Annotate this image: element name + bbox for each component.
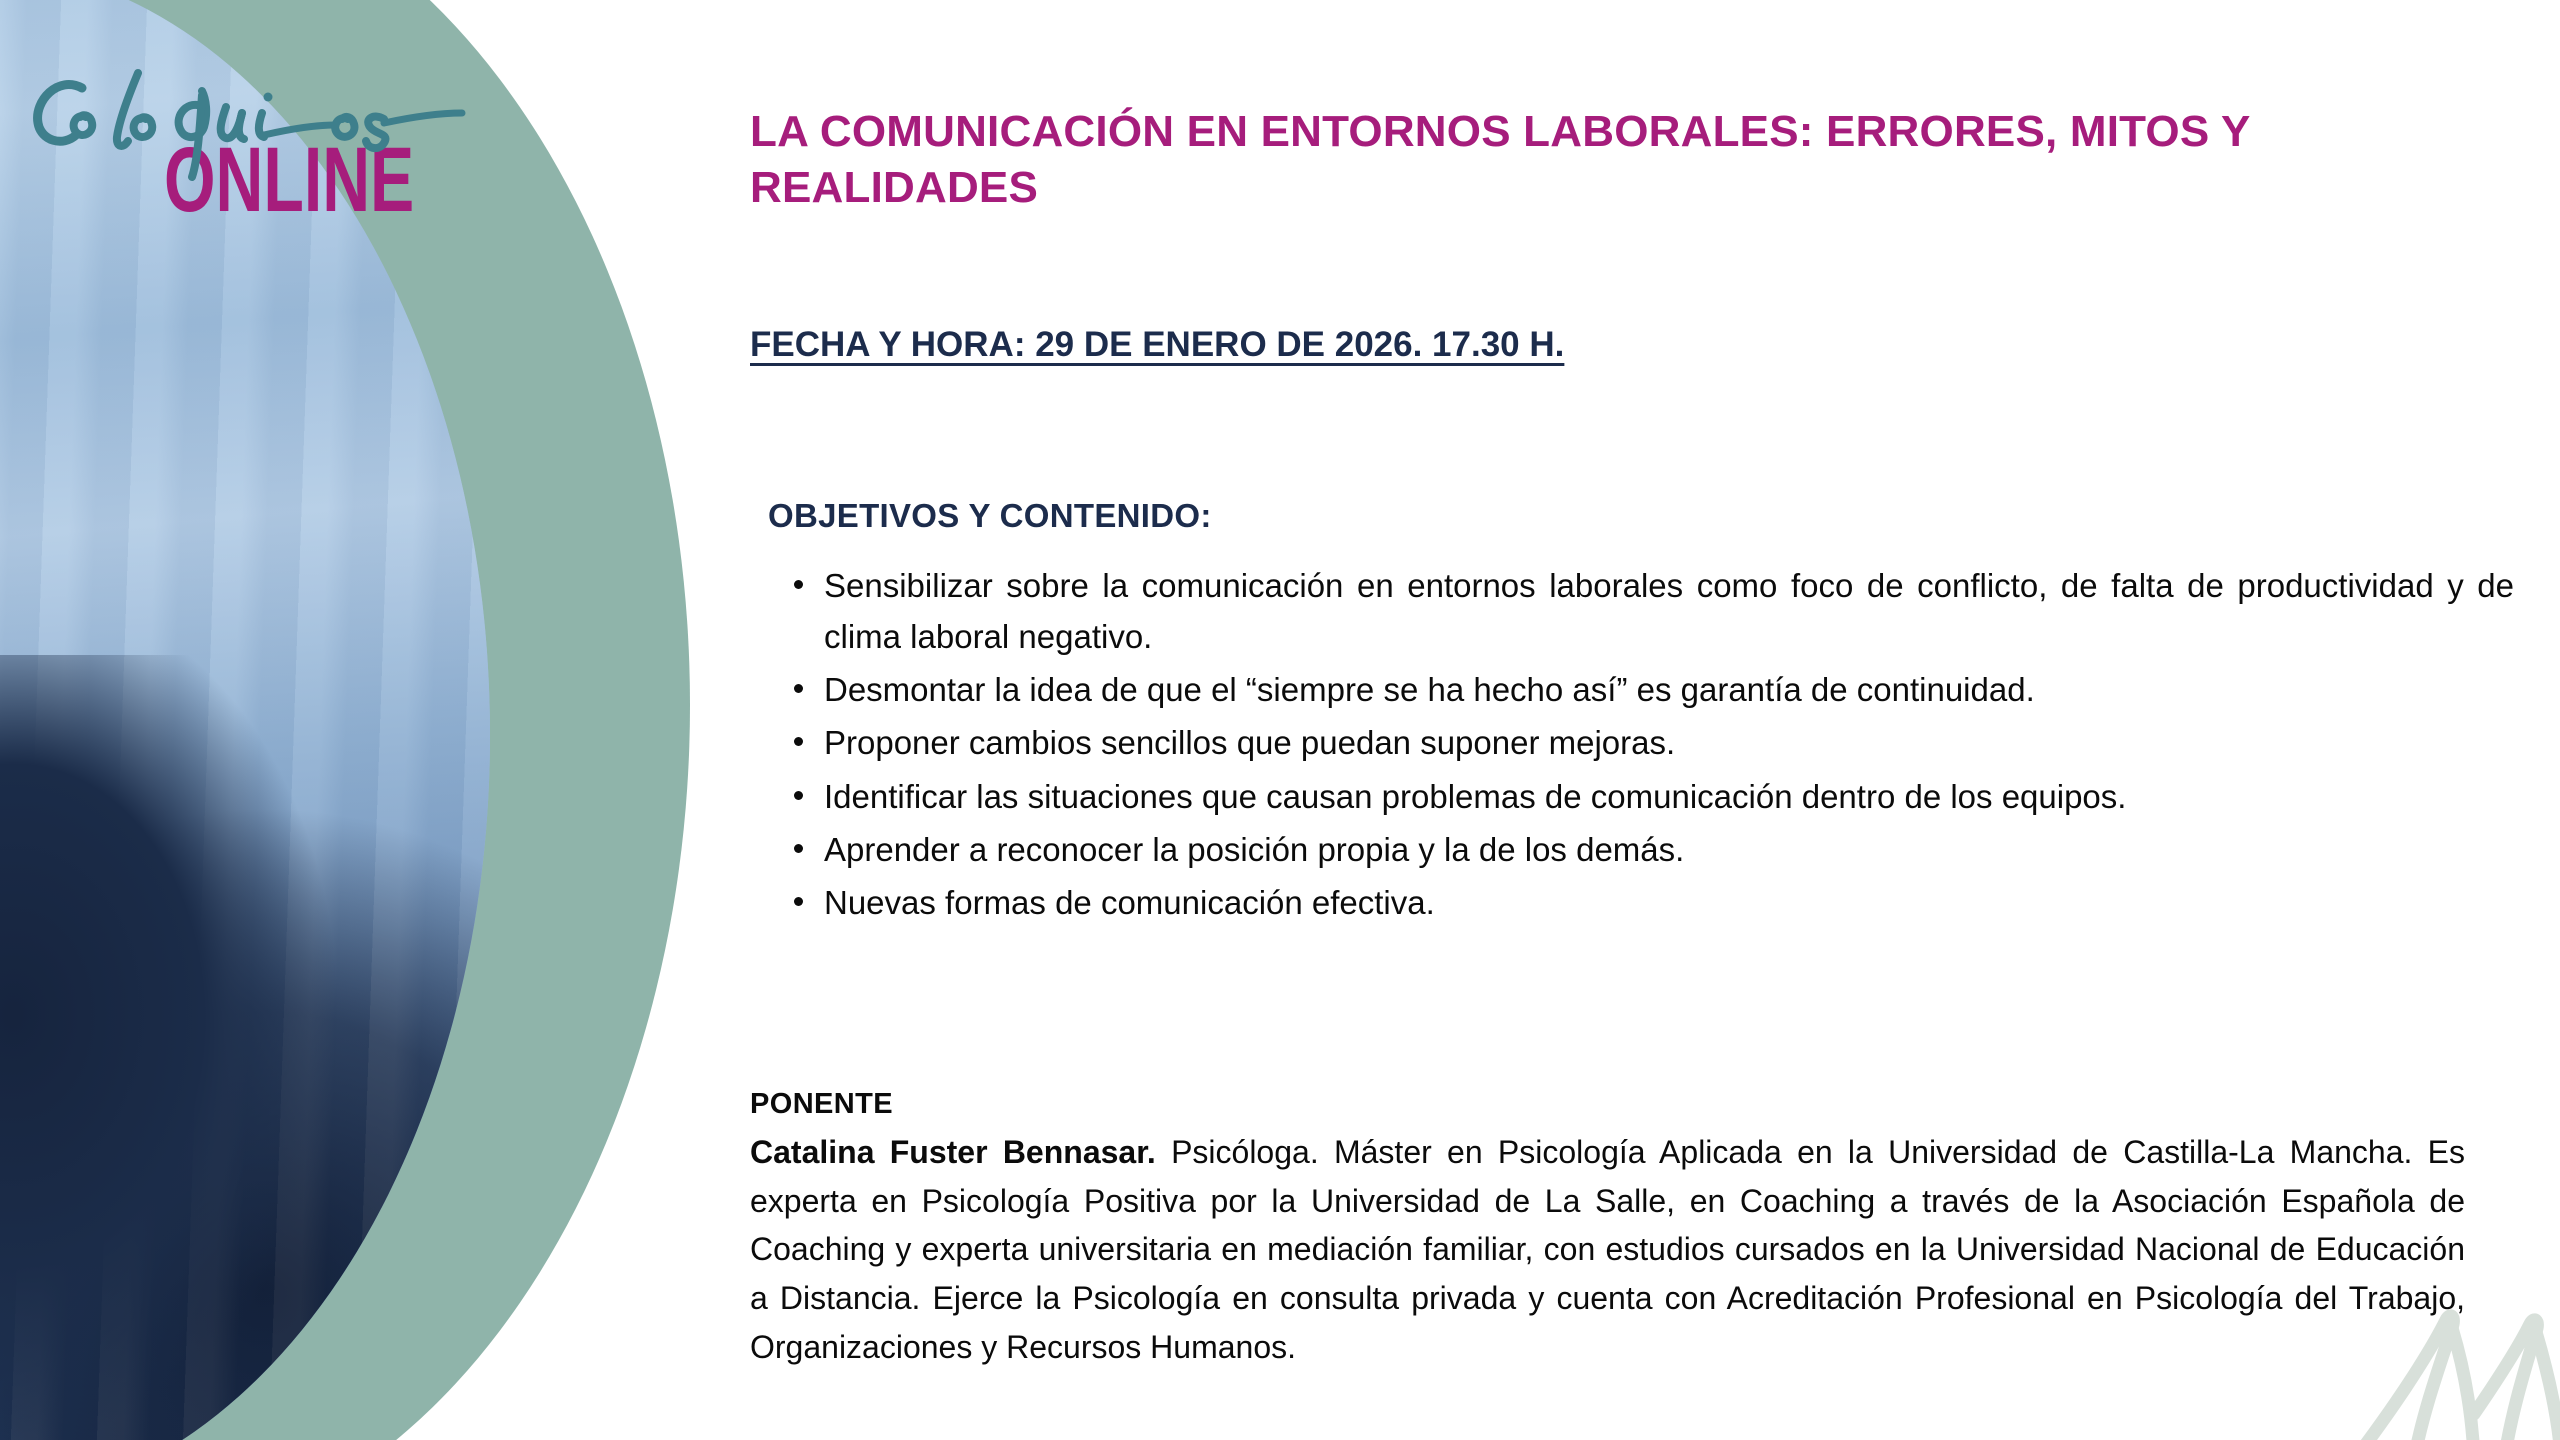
brand-logo: ONLINE: [18, 55, 558, 230]
datetime-line: FECHA Y HORA: 29 DE ENERO DE 2026. 17.30…: [750, 325, 1564, 365]
objective-item: Proponer cambios sencillos que puedan su…: [824, 717, 2514, 768]
logo-coloquios-script-icon: [18, 55, 558, 185]
content-column: LA COMUNICACIÓN EN ENTORNOS LABORALES: E…: [750, 0, 2465, 1440]
objective-item: Identificar las situaciones que causan p…: [824, 771, 2514, 822]
page-title: LA COMUNICACIÓN EN ENTORNOS LABORALES: E…: [750, 104, 2450, 217]
objective-item: Nuevas formas de comunicación efectiva.: [824, 877, 2514, 928]
speaker-name: Catalina Fuster Bennasar.: [750, 1134, 1156, 1170]
objectives-heading: OBJETIVOS Y CONTENIDO:: [768, 497, 1212, 535]
objective-item: Desmontar la idea de que el “siempre se …: [824, 664, 2514, 715]
hand-image: [0, 765, 180, 1405]
objectives-list: Sensibilizar sobre la comunicación en en…: [772, 560, 2514, 930]
objective-item: Sensibilizar sobre la comunicación en en…: [824, 560, 2514, 662]
speaker-label: PONENTE: [750, 1088, 893, 1121]
left-artwork: ONLINE: [0, 0, 760, 1440]
objective-item: Aprender a reconocer la posición propia …: [824, 824, 2514, 875]
speaker-bio: Catalina Fuster Bennasar. Psicóloga. Más…: [750, 1128, 2465, 1371]
promo-slide: ONLINE: [0, 0, 2560, 1440]
